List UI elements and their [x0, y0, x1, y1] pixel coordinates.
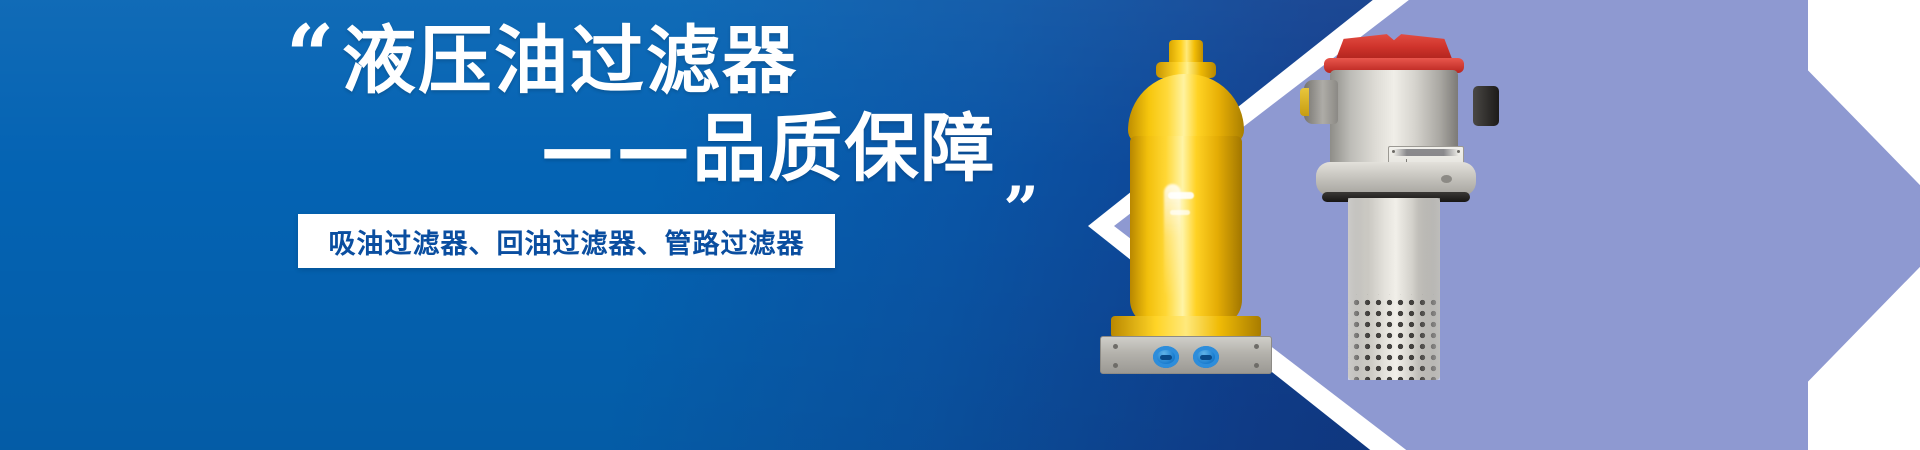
return-filter-right-boss	[1473, 86, 1499, 126]
headline-line-1-text: 液压油过滤器	[342, 24, 798, 98]
return-filter-head	[1330, 70, 1458, 168]
filter-gloss-highlight	[1164, 184, 1181, 300]
quote-close-icon: „	[1004, 155, 1040, 192]
subtitle-text: 吸油过滤器、回油过滤器、管路过滤器	[329, 222, 805, 261]
filter-body	[1130, 136, 1242, 326]
nameplate-title-bar	[1389, 149, 1463, 156]
headline-line-1: 液压油过滤器	[286, 24, 1046, 98]
base-bolt	[1113, 363, 1118, 368]
return-filter-yellow-tag	[1300, 88, 1309, 116]
filter-specular-flare	[1168, 192, 1194, 199]
filter-specular-flare-2	[1170, 210, 1190, 215]
flange-bolt-hole	[1441, 175, 1452, 183]
diamond-right-chevron	[1808, 0, 1920, 450]
filter-shoulder	[1128, 74, 1244, 144]
filter-port-inlet	[1153, 346, 1179, 368]
base-bolt	[1254, 344, 1259, 349]
return-filter-left-boss	[1304, 80, 1338, 124]
nameplate-rivet	[1457, 150, 1460, 153]
product-gray-return-filter	[1300, 22, 1515, 382]
tube-shading	[1348, 198, 1440, 380]
banner-text-block: “ 液压油过滤器 ——品质保障 „ 吸油过滤器、回油过滤器、管路过滤器	[286, 24, 1046, 268]
subtitle-box: 吸油过滤器、回油过滤器、管路过滤器	[298, 214, 835, 268]
return-filter-perforated-tube	[1348, 198, 1440, 380]
headline-line-2-text: ——品质保障	[540, 112, 996, 186]
nameplate-rivet	[1392, 150, 1395, 153]
promo-banner: “ 液压油过滤器 ——品质保障 „ 吸油过滤器、回油过滤器、管路过滤器	[0, 0, 1920, 450]
headline-line-2: ——品质保障 „	[286, 112, 1046, 186]
filter-flange	[1111, 316, 1261, 338]
base-bolt	[1254, 363, 1259, 368]
filter-port-outlet	[1193, 346, 1219, 368]
return-filter-mount-flange	[1316, 162, 1476, 196]
quote-open-icon: “	[286, 22, 334, 89]
filter-base-plate	[1100, 336, 1272, 374]
base-bolt	[1113, 344, 1118, 349]
product-yellow-pressure-filter	[1098, 40, 1273, 370]
headline: “ 液压油过滤器 ——品质保障 „	[286, 24, 1046, 186]
